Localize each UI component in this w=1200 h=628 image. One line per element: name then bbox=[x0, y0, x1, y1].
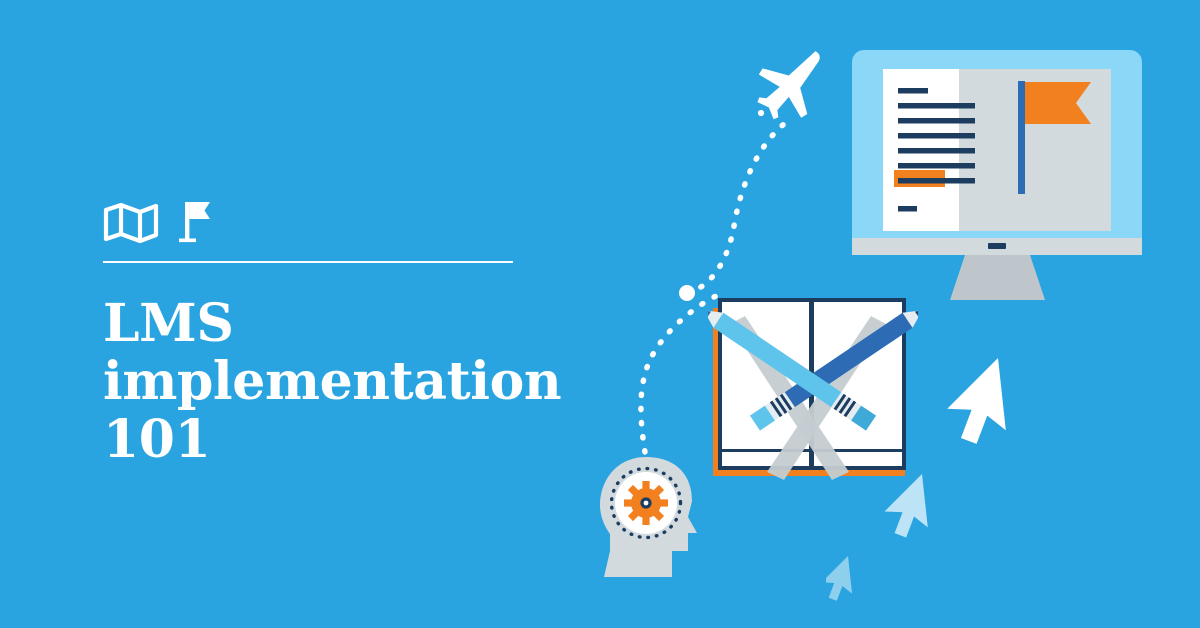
path-waypoint-dot bbox=[679, 285, 695, 301]
headline-line-1: LMS bbox=[103, 293, 233, 354]
promo-banner: LMSimplementation101 bbox=[0, 0, 1200, 628]
headline-line-2: implementation bbox=[103, 351, 561, 412]
map-icon bbox=[103, 202, 159, 244]
screen-flag-icon bbox=[1018, 81, 1091, 194]
head-silhouette bbox=[600, 457, 697, 577]
cursor-arrow-large bbox=[939, 358, 1038, 457]
cursor-arrow-medium bbox=[879, 474, 952, 547]
head-with-gear bbox=[596, 455, 720, 585]
monitor-indicator bbox=[988, 243, 1006, 249]
headline-line-3: 101 bbox=[103, 409, 210, 470]
cursor-arrow-small bbox=[826, 556, 869, 607]
book-cover bbox=[713, 308, 905, 476]
screen-right-panel bbox=[945, 69, 1111, 231]
pencil-light-blue bbox=[708, 303, 876, 431]
head-inner-circle bbox=[615, 472, 677, 534]
gear-icon bbox=[624, 481, 668, 525]
document-highlight bbox=[894, 170, 945, 187]
pencil-dark-blue bbox=[750, 303, 918, 431]
open-book-with-pencils bbox=[708, 286, 918, 486]
monitor-stand bbox=[950, 255, 1045, 300]
desktop-monitor bbox=[852, 50, 1148, 305]
head-dotted-ring bbox=[612, 469, 681, 538]
dotted-journey-path bbox=[588, 100, 788, 490]
screen-document-panel bbox=[883, 69, 959, 231]
page-title: LMSimplementation101 bbox=[103, 263, 533, 470]
eyebrow-icon-row bbox=[103, 196, 543, 244]
book-pages bbox=[720, 300, 904, 468]
flag-icon bbox=[177, 200, 213, 244]
airplane-icon bbox=[755, 48, 829, 124]
headline-block: LMSimplementation101 bbox=[103, 196, 543, 470]
pencil-shadows bbox=[730, 316, 886, 480]
cursor-arrow-group bbox=[826, 340, 1126, 610]
document-text-lines bbox=[894, 88, 975, 212]
monitor-bezel bbox=[852, 50, 1142, 255]
